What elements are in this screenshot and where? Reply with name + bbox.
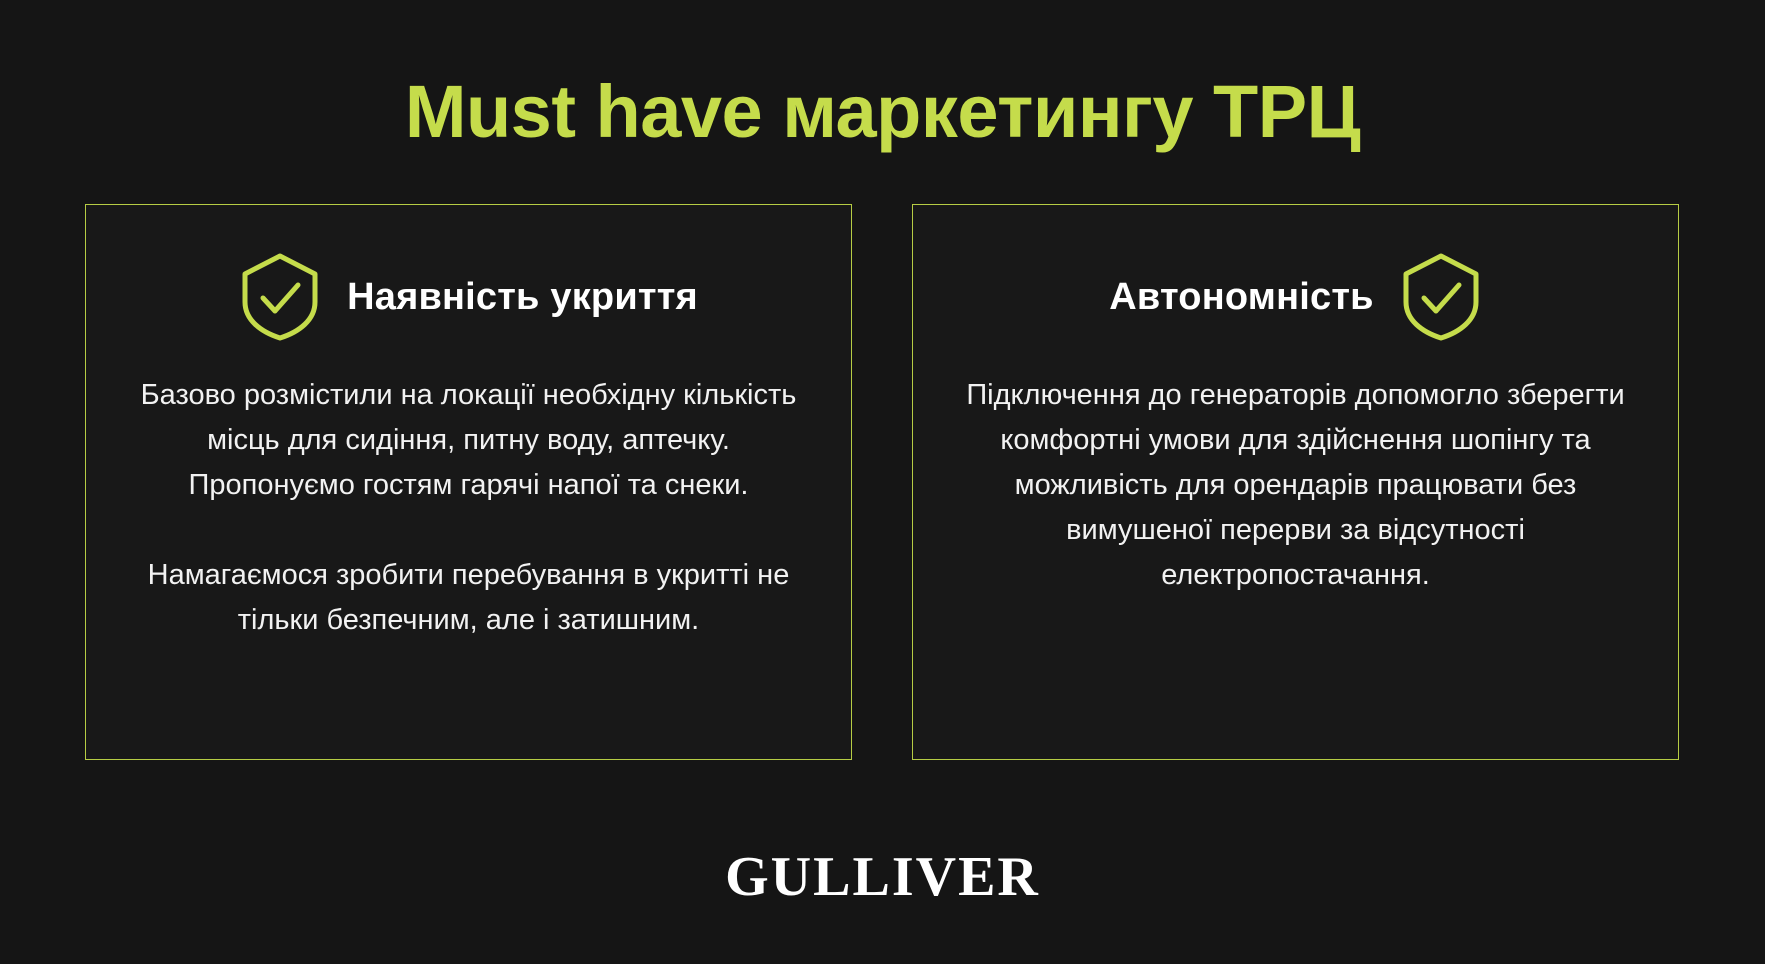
card-paragraph: Намагаємося зробити перебування в укритт… xyxy=(129,553,809,643)
card-autonomy: Автономність Підключення до генераторів … xyxy=(912,204,1679,760)
card-header: Наявність укриття xyxy=(239,249,698,345)
card-body: Підключення до генераторів допомогло збе… xyxy=(956,373,1636,598)
card-title: Наявність укриття xyxy=(347,273,698,321)
card-paragraph: Базово розмістили на локації необхідну к… xyxy=(129,373,809,508)
card-shelter: Наявність укриття Базово розмістили на л… xyxy=(85,204,852,760)
shield-check-icon xyxy=(239,252,321,342)
card-title: Автономність xyxy=(1109,273,1373,321)
cards-row: Наявність укриття Базово розмістили на л… xyxy=(85,204,1679,760)
slide: Must have маркетингу ТРЦ Наявність укрит… xyxy=(0,0,1765,964)
card-paragraph: Підключення до генераторів допомогло збе… xyxy=(956,373,1636,598)
card-header: Автономність xyxy=(1109,249,1481,345)
card-body: Базово розмістили на локації необхідну к… xyxy=(129,373,809,643)
brand-logo: GULLIVER xyxy=(0,845,1765,909)
shield-check-icon xyxy=(1400,252,1482,342)
page-title: Must have маркетингу ТРЦ xyxy=(0,66,1765,158)
